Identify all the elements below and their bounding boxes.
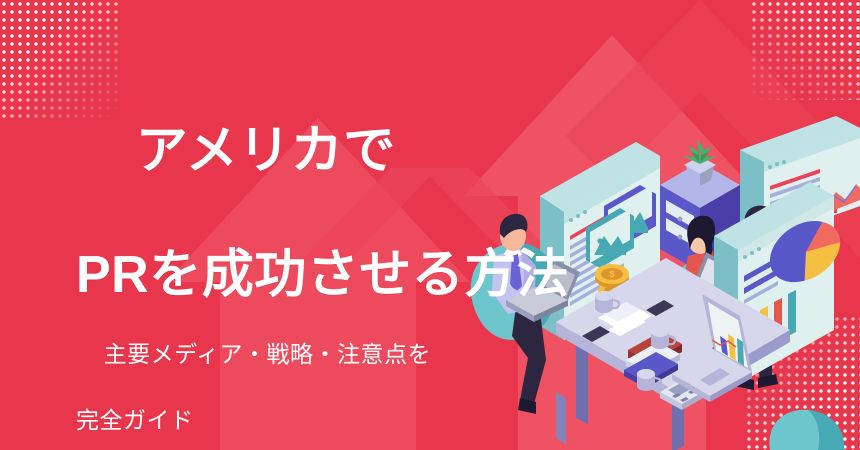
subtitle-line-2: 完全ガイド — [76, 404, 431, 437]
svg-text:$: $ — [609, 269, 614, 279]
title-line-1: アメリカで — [136, 122, 396, 180]
beanbag-corner — [769, 410, 844, 450]
hero-banner: $ $ $ — [0, 0, 860, 450]
subtitle-line-1: 主要メディア・戦略・注意点を — [104, 341, 431, 367]
title-line-2: PRを成功させる方法 — [76, 244, 569, 306]
page-subtitle: 主要メディア・戦略・注意点を 完全ガイド — [76, 305, 431, 450]
